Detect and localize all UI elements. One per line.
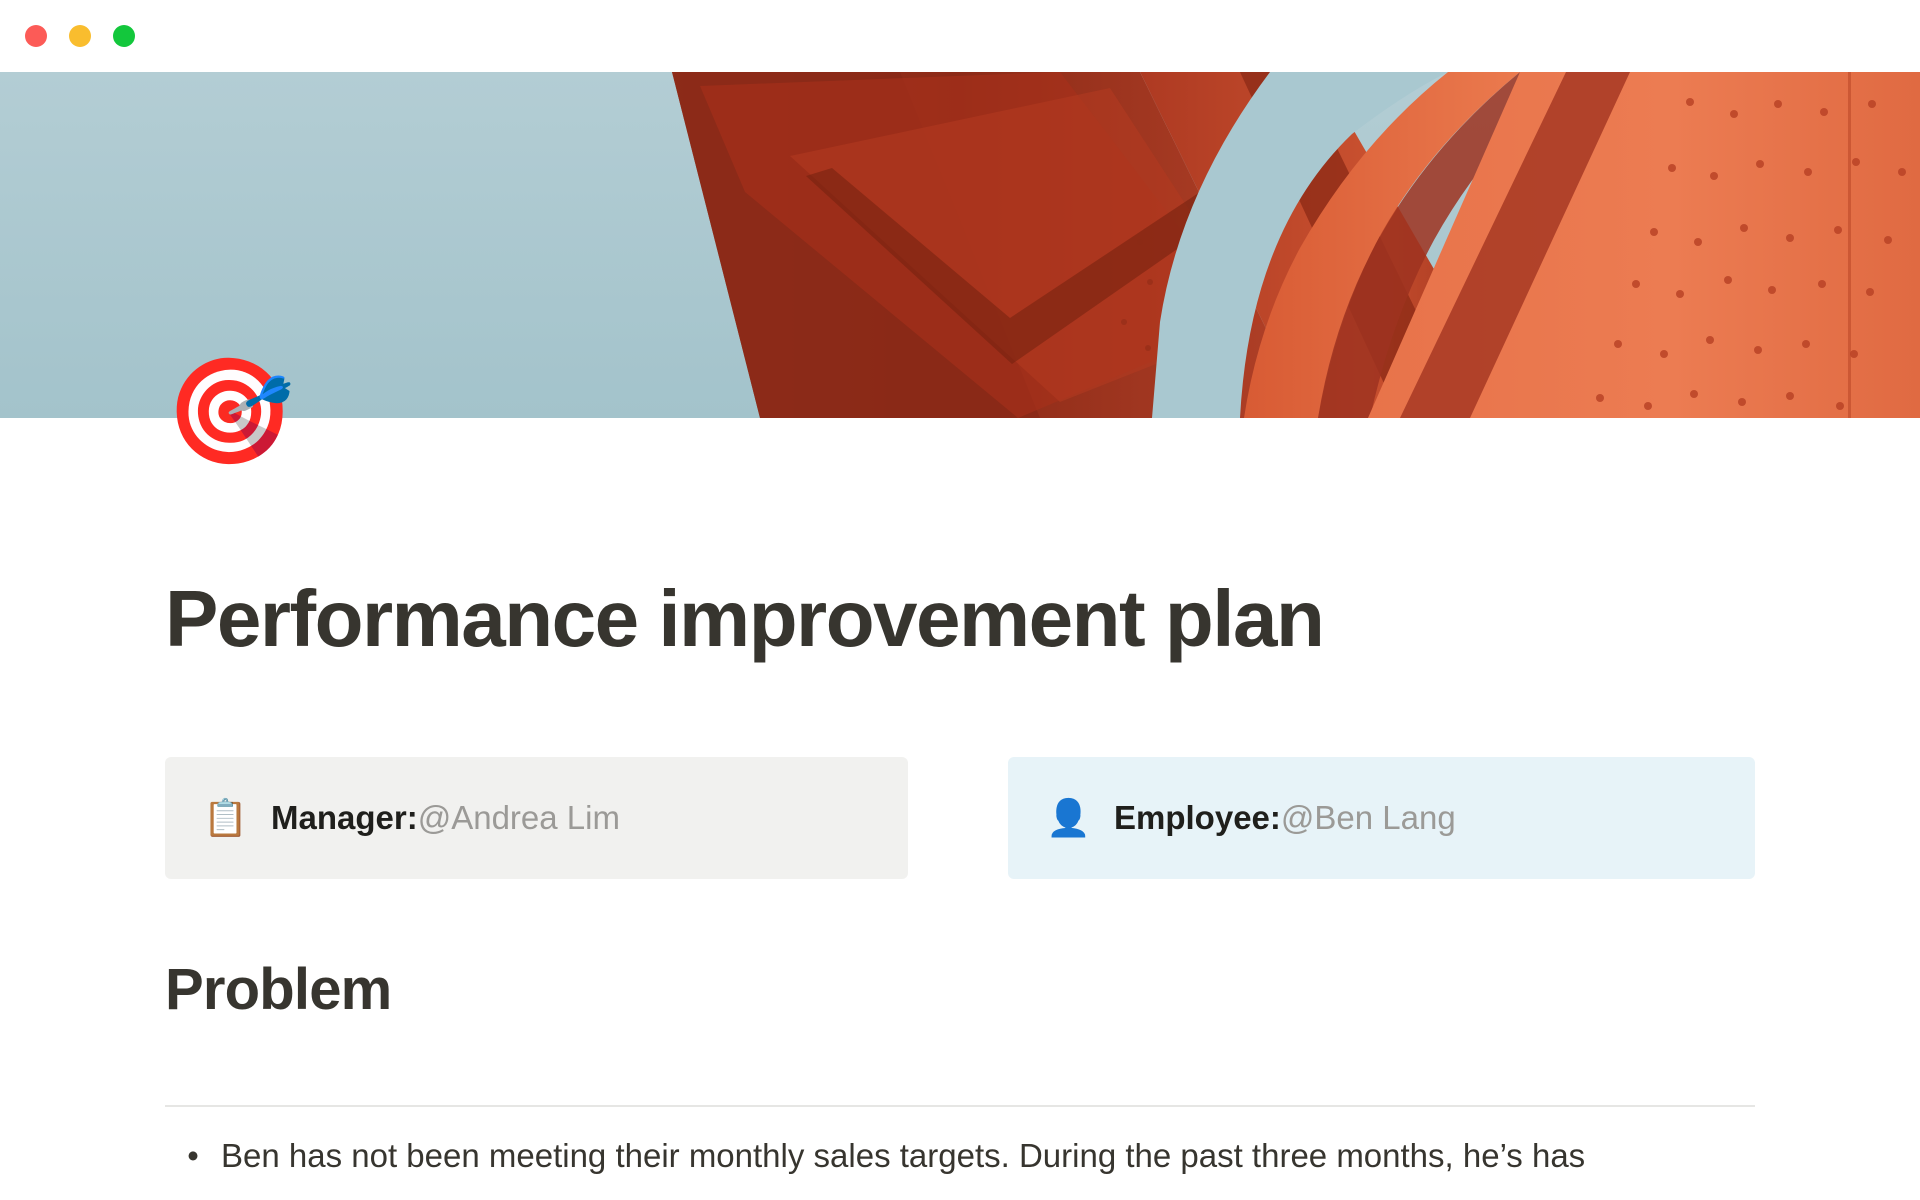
dartboard-emoji[interactable]: 🎯 bbox=[165, 352, 285, 472]
list-item-text: Ben has not been meeting their monthly s… bbox=[221, 1132, 1785, 1180]
bullet-list-problem: • Ben has not been meeting their monthly… bbox=[165, 1132, 1785, 1180]
section-divider bbox=[165, 1105, 1755, 1107]
callout-row: 📋 Manager:@Andrea Lim 👤 Employee:@Ben La… bbox=[165, 757, 1755, 879]
window-traffic-lights bbox=[25, 25, 135, 47]
callout-employee-text: Employee:@Ben Lang bbox=[1114, 797, 1456, 840]
callout-employee[interactable]: 👤 Employee:@Ben Lang bbox=[1008, 757, 1755, 879]
callout-employee-label: Employee: bbox=[1114, 799, 1281, 836]
maximize-window-button[interactable] bbox=[113, 25, 135, 47]
list-item[interactable]: • Ben has not been meeting their monthly… bbox=[165, 1132, 1785, 1180]
close-window-button[interactable] bbox=[25, 25, 47, 47]
page-title[interactable]: Performance improvement plan bbox=[165, 574, 1765, 664]
callout-manager[interactable]: 📋 Manager:@Andrea Lim bbox=[165, 757, 908, 879]
clipboard-emoji: 📋 bbox=[203, 800, 245, 836]
bullet-marker-icon: • bbox=[165, 1132, 221, 1180]
minimize-window-button[interactable] bbox=[69, 25, 91, 47]
callout-manager-text: Manager:@Andrea Lim bbox=[271, 797, 620, 840]
section-heading-problem[interactable]: Problem bbox=[165, 955, 391, 1025]
callout-employee-mention[interactable]: @Ben Lang bbox=[1281, 799, 1456, 836]
callout-manager-label: Manager: bbox=[271, 799, 418, 836]
bust-in-silhouette-emoji: 👤 bbox=[1046, 800, 1088, 836]
window-titlebar bbox=[0, 0, 1920, 72]
callout-manager-mention[interactable]: @Andrea Lim bbox=[418, 799, 620, 836]
